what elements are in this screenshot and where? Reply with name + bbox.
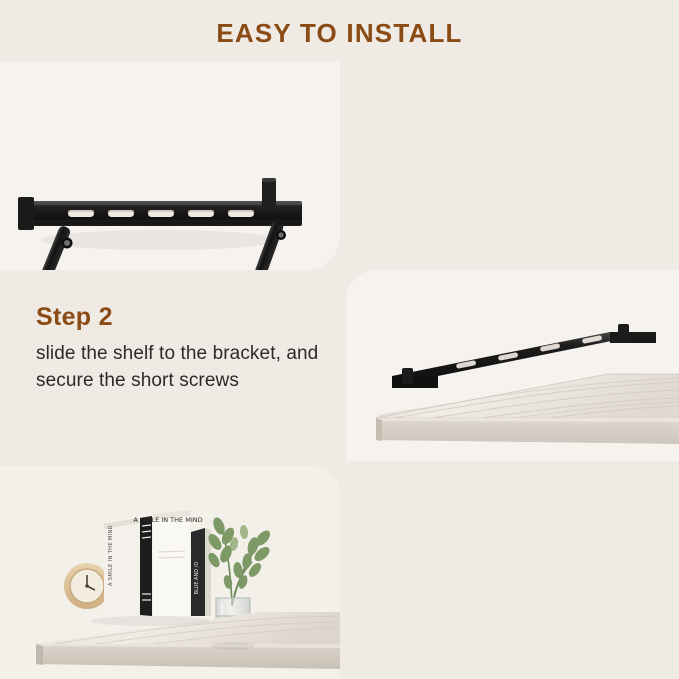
book-label-3: BLUE AND /O: [194, 562, 200, 595]
step3-image-panel: A SMILE IN THE MIND A SMILE IN THE MIND: [0, 466, 340, 679]
step2-text-panel: Step 2 slide the shelf to the bracket, a…: [0, 276, 340, 461]
decor-clock: [64, 563, 110, 609]
infographic-page: EASY TO INSTALL: [0, 0, 679, 679]
page-title: EASY TO INSTALL: [0, 18, 679, 49]
step2-image-panel: [346, 270, 679, 461]
step1-text-panel: Step 1 attch the bracket to the wall wit…: [346, 62, 679, 270]
step3-text-panel: Step 3 disoloay your favourite items and…: [346, 466, 679, 679]
book-label-2: A SMILE IN THE MIND: [133, 516, 202, 524]
step2-heading: Step 2: [36, 303, 326, 332]
shelf-with-bracket-photo: [346, 270, 679, 461]
step2-body: slide the shelf to the bracket, and secu…: [36, 340, 326, 394]
step1-image-panel: [0, 62, 340, 270]
book-label-1: A SMILE IN THE MIND: [108, 525, 114, 586]
bracket-photo: [0, 62, 340, 270]
step2-text-block: Step 2 slide the shelf to the bracket, a…: [36, 303, 326, 394]
styled-shelf-photo: A SMILE IN THE MIND A SMILE IN THE MIND: [0, 466, 340, 679]
